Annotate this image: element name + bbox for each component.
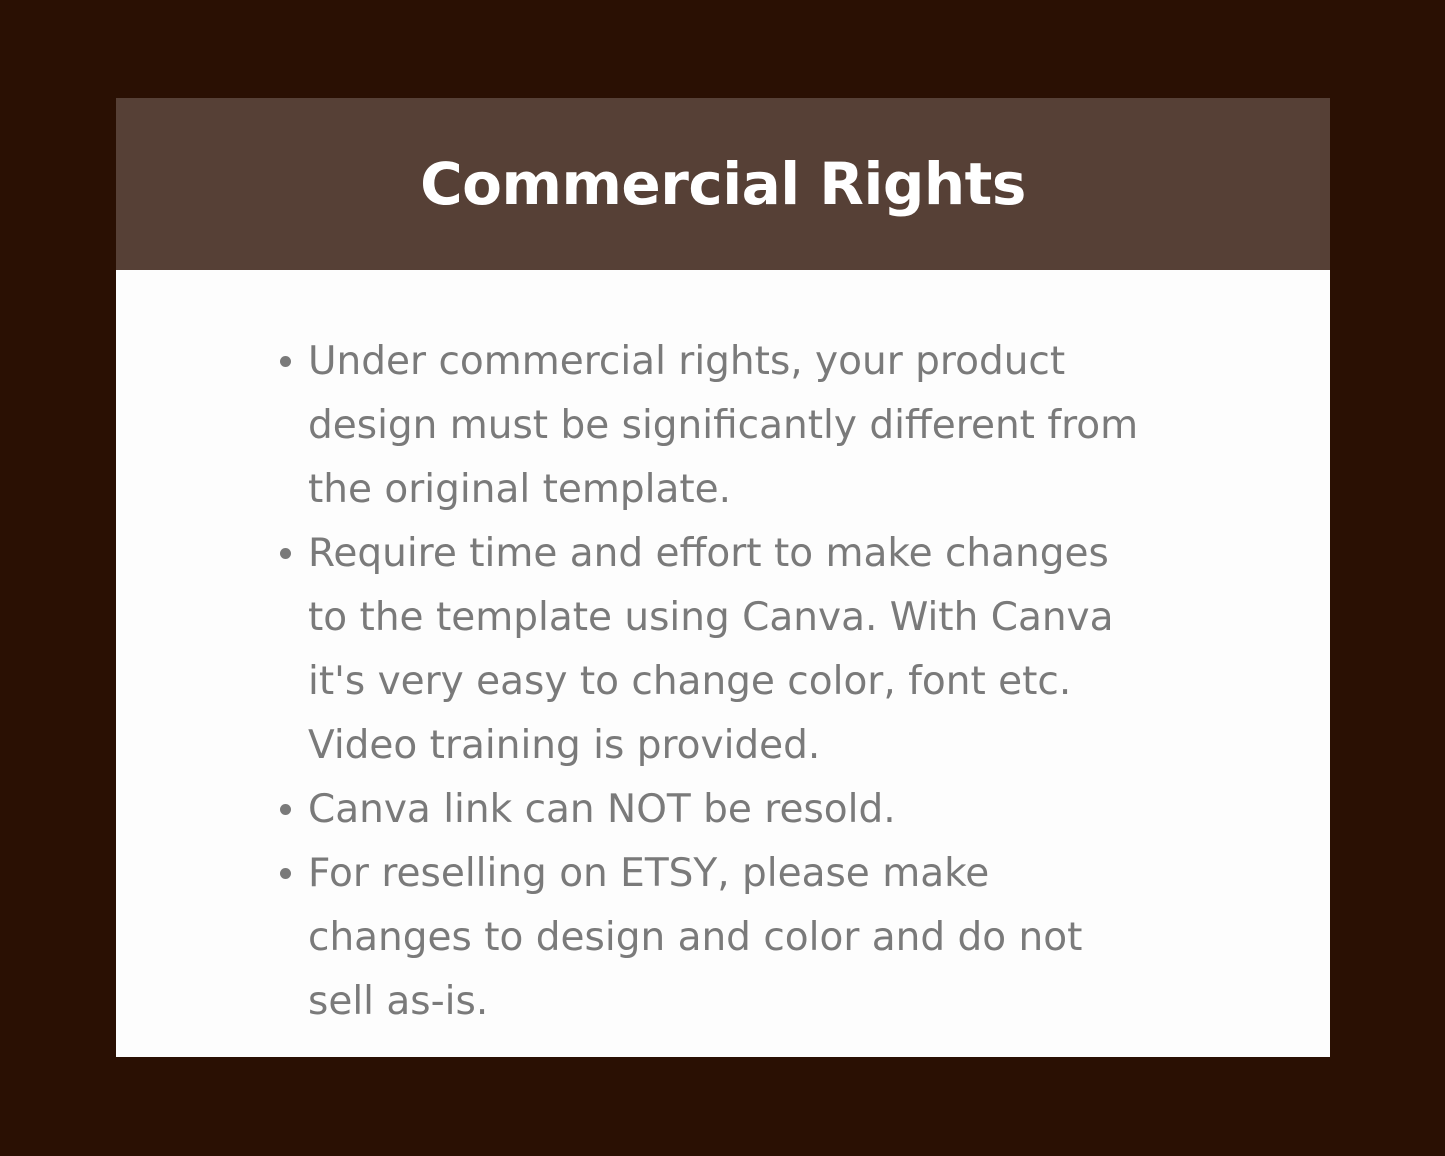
content-card: Commercial Rights Under commercial right… [116, 98, 1330, 1057]
card-body: Under commercial rights, your product de… [116, 270, 1330, 1057]
list-item: Require time and effort to make changes … [280, 522, 1160, 778]
list-item-text: Canva link can NOT be resold. [308, 778, 1160, 842]
bullet-point-icon [280, 804, 291, 815]
list-item: For reselling on ETSY, please make chang… [280, 842, 1160, 1034]
bullet-point-icon [280, 356, 291, 367]
list-item-text: For reselling on ETSY, please make chang… [308, 842, 1160, 1034]
list-item-text: Under commercial rights, your product de… [308, 330, 1160, 522]
list-item: Under commercial rights, your product de… [280, 330, 1160, 522]
bullet-point-icon [280, 548, 291, 559]
page-title: Commercial Rights [420, 155, 1026, 213]
card-header: Commercial Rights [116, 98, 1330, 270]
bullet-point-icon [280, 868, 291, 879]
list-item-text: Require time and effort to make changes … [308, 522, 1160, 778]
slide-canvas: Commercial Rights Under commercial right… [0, 0, 1445, 1156]
bullet-list: Under commercial rights, your product de… [280, 330, 1160, 1034]
list-item: Canva link can NOT be resold. [280, 778, 1160, 842]
